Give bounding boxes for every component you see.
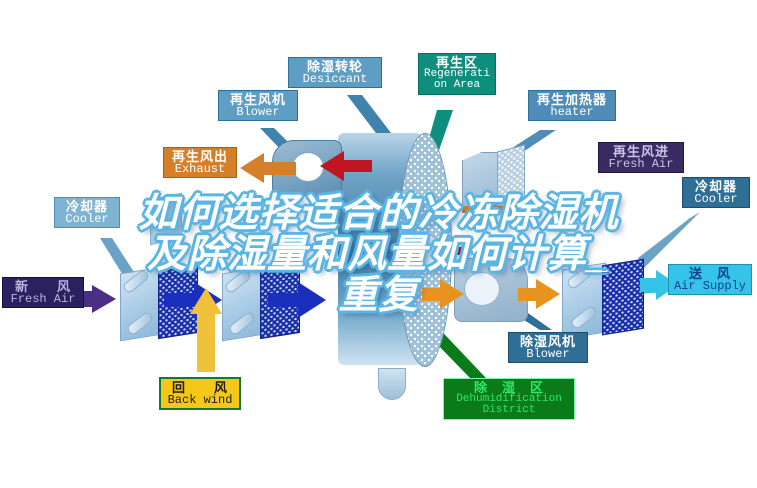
label-cooler-left-en: Cooler	[59, 213, 115, 225]
label-back-wind-en: Back wind	[165, 394, 235, 406]
label-regeneration-blower-cn: 再生风机	[223, 93, 293, 106]
label-cooler-left-cn: 冷却器	[59, 200, 115, 213]
label-cooler-left[interactable]: 冷却器 Cooler	[54, 197, 120, 228]
label-fresh-air-in[interactable]: 新 风 Fresh Air	[2, 277, 84, 308]
label-dehumidify-blower-cn: 除湿风机	[513, 335, 583, 348]
label-cooler-right-cn: 冷却器	[687, 180, 745, 193]
regeneration-heater-mesh	[497, 145, 525, 216]
label-regeneration-blower[interactable]: 再生风机 Blower	[218, 90, 298, 121]
label-cooler-right-en: Cooler	[687, 193, 745, 205]
label-dehumidify-blower[interactable]: 除湿风机 Blower	[508, 332, 588, 363]
label-dehumidify-blower-en: Blower	[513, 348, 583, 360]
label-fresh-air-in-en: Fresh Air	[7, 293, 79, 305]
diagram-canvas: xt	[0, 0, 757, 488]
regeneration-heater-element	[462, 206, 526, 213]
label-dehumidification-district-cn: 除 湿 区	[448, 381, 570, 394]
supply-coil-mesh	[602, 259, 644, 336]
label-regeneration-air-out-cn: 再生风出	[168, 150, 232, 163]
watermark-text: xt	[392, 296, 401, 308]
label-regeneration-area-en2: on Area	[423, 80, 491, 91]
label-dehumidification-district-en2: District	[448, 405, 570, 416]
label-regeneration-heater-cn: 再生加热器	[533, 93, 611, 106]
label-back-wind-cn: 回 风	[165, 381, 235, 394]
label-desiccant-wheel-cn: 除湿转轮	[293, 60, 377, 73]
label-dehumidification-district[interactable]: 除 湿 区 Dehumidification District	[443, 378, 575, 420]
label-desiccant-wheel[interactable]: 除湿转轮 Desiccant	[288, 57, 382, 88]
label-desiccant-wheel-en: Desiccant	[293, 73, 377, 85]
label-regeneration-air-in-cn: 再生风进	[603, 145, 679, 158]
label-regeneration-air-in-en: Fresh Air	[603, 158, 679, 170]
label-regeneration-area[interactable]: 再生区 Regenerati on Area	[418, 53, 496, 95]
label-fresh-air-in-cn: 新 风	[7, 280, 79, 293]
label-regeneration-heater[interactable]: 再生加热器 heater	[528, 90, 616, 121]
label-regeneration-area-cn: 再生区	[423, 56, 491, 69]
label-regeneration-air-out[interactable]: 再生风出 Exhaust	[163, 147, 237, 178]
label-regeneration-air-out-en: Exhaust	[168, 163, 232, 175]
desiccant-wheel-drip	[378, 368, 406, 400]
label-cooler-right[interactable]: 冷却器 Cooler	[682, 177, 750, 208]
label-air-supply-en: Air Supply	[673, 280, 747, 292]
label-back-wind[interactable]: 回 风 Back wind	[159, 377, 241, 410]
label-regeneration-air-in[interactable]: 再生风进 Fresh Air	[598, 142, 684, 173]
label-regeneration-blower-en: Blower	[223, 106, 293, 118]
dehumidify-blower-inlet	[464, 272, 500, 306]
label-air-supply[interactable]: 送 风 Air Supply	[668, 264, 752, 295]
label-regeneration-heater-en: heater	[533, 106, 611, 118]
exhaust-cooler-coil	[150, 193, 182, 246]
label-air-supply-cn: 送 风	[673, 267, 747, 280]
